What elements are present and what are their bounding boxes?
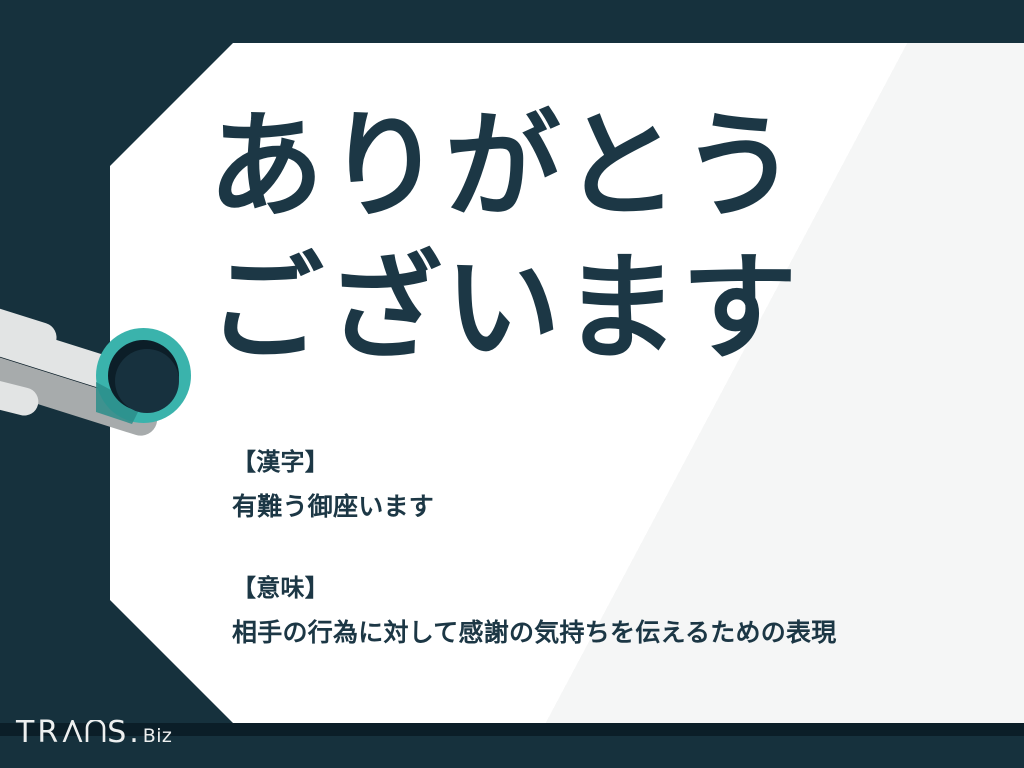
section-kanji: 【漢字】 有難う御座います <box>232 444 434 527</box>
logo-letter-t: T <box>16 718 37 748</box>
logo-letter-r: R <box>37 718 61 748</box>
tag-hole-highlight <box>115 349 179 413</box>
section-meaning-text: 相手の行為に対して感謝の気持ちを伝えるための表現 <box>232 614 837 653</box>
logo-wordmark: T R S <box>16 718 129 748</box>
logo-suffix: Biz <box>143 727 172 746</box>
section-meaning-label: 【意味】 <box>232 570 837 606</box>
logo-letter-n-icon <box>85 720 106 742</box>
section-kanji-text: 有難う御座います <box>232 488 434 527</box>
headline-line-1: ありがとう <box>208 96 998 238</box>
section-kanji-label: 【漢字】 <box>232 444 434 480</box>
page-title: ありがとう ございます <box>208 96 998 379</box>
brand-logo: T R S . Biz <box>16 718 172 748</box>
logo-dot: . <box>129 718 139 748</box>
logo-letter-a-icon <box>62 720 83 742</box>
slide-canvas: ありがとう ございます 【漢字】 有難う御座います 【意味】 相手の行為に対して… <box>0 0 1024 768</box>
logo-letter-s: S <box>107 718 129 748</box>
section-meaning: 【意味】 相手の行為に対して感謝の気持ちを伝えるための表現 <box>232 570 837 653</box>
headline-line-2: ございます <box>208 238 998 380</box>
